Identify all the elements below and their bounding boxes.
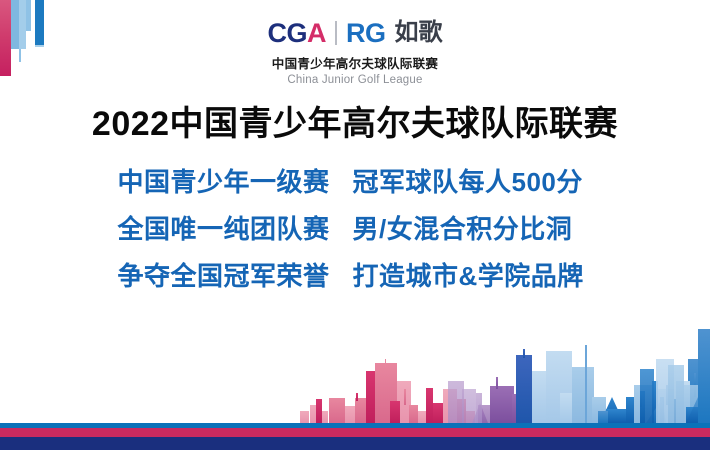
logo-lockup: CGA RG 如歌 中国青少年高尔夫球队际联赛 China Junior Gol… (0, 18, 710, 86)
feature-right-3: 打造城市&学院品牌 (353, 256, 603, 293)
bottom-stripe-crimson (0, 428, 710, 437)
cga-wordmark: CGA (268, 20, 327, 47)
feature-right-2: 男/女混合积分比洞 (353, 209, 603, 246)
feature-right-1: 冠军球队每人500分 (353, 162, 603, 199)
feature-row: 中国青少年一级赛 冠军球队每人500分 (0, 162, 710, 209)
league-name-en: China Junior Golf League (0, 74, 710, 86)
ruge-wordmark: 如歌 (395, 21, 443, 45)
poster-canvas: CGA RG 如歌 中国青少年高尔夫球队际联赛 China Junior Gol… (0, 0, 710, 450)
city-skyline-illustration (0, 293, 710, 423)
bottom-stripe-navy (0, 437, 710, 450)
league-name-cn: 中国青少年高尔夫球队际联赛 (0, 53, 710, 72)
cga-wordmark-navy: CG (268, 18, 308, 48)
page-title: 2022中国青少年高尔夫球队际联赛 (0, 96, 710, 145)
feature-left-1: 中国青少年一级赛 (108, 162, 353, 199)
feature-list: 中国青少年一级赛 冠军球队每人500分 全国唯一纯团队赛 男/女混合积分比洞 争… (0, 162, 710, 303)
feature-left-3: 争夺全国冠军荣誉 (108, 256, 353, 293)
cga-wordmark-pink: A (307, 18, 326, 48)
feature-left-2: 全国唯一纯团队赛 (108, 209, 353, 246)
feature-row: 全国唯一纯团队赛 男/女混合积分比洞 (0, 209, 710, 256)
logo-divider (335, 21, 337, 45)
rg-wordmark: RG (346, 20, 386, 47)
logo-wordmark-row: CGA RG 如歌 (0, 18, 710, 48)
